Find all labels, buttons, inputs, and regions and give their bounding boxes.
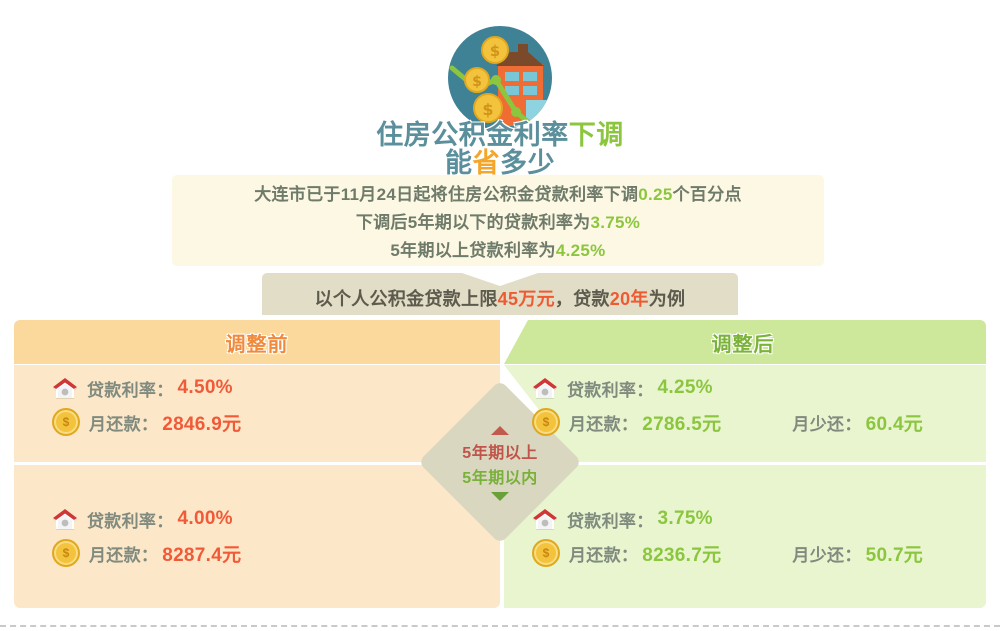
- table-row: $ 月还款： 2846.9元: [52, 406, 241, 438]
- desc-2-text-a: 下调后5年期以下的贷款利率为: [356, 213, 591, 232]
- title-part-highlight: 下调: [569, 120, 624, 150]
- payment-value: 2786.5元: [642, 409, 721, 436]
- panel-before-header-label: 调整前: [226, 328, 289, 357]
- table-row: 贷款利率： 3.75%: [532, 503, 923, 535]
- rate-value: 4.25%: [658, 377, 713, 399]
- table-row: $ 月还款： 2786.5元 月少还： 60.4元: [532, 406, 923, 438]
- example-banner: 以个人公积金贷款上限45万元，贷款20年为例: [262, 273, 738, 315]
- table-row: $ 月还款： 8287.4元: [52, 537, 241, 569]
- payment-label: 月还款：: [89, 410, 158, 435]
- example-text: 以个人公积金贷款上限45万元，贷款20年为例: [315, 277, 686, 311]
- payment-value: 2846.9元: [162, 409, 241, 436]
- page-title: 住房公积金利率下调 能省多少: [0, 122, 1000, 177]
- example-suffix: 为例: [649, 289, 686, 309]
- payment-label: 月还款：: [89, 541, 158, 566]
- table-row: $ 月还款： 8236.7元 月少还： 50.7元: [532, 537, 923, 569]
- house-icon: [52, 376, 78, 400]
- table-row: 贷款利率： 4.50%: [52, 372, 241, 404]
- desc-1-highlight: 0.25: [638, 185, 672, 204]
- triangle-up-icon: [491, 426, 509, 435]
- house-icon: [532, 376, 558, 400]
- panel-after-header-label: 调整后: [712, 328, 775, 357]
- example-prefix: 以个人公积金贷款上限: [315, 289, 498, 309]
- term-label-above: 5年期以上: [462, 439, 537, 463]
- saving-label: 月少还：: [792, 410, 861, 435]
- before-within5y-rows: 贷款利率： 4.00% $ 月还款： 8287.4元: [52, 503, 241, 569]
- saving-label: 月少还：: [792, 541, 861, 566]
- rate-value: 3.75%: [658, 508, 713, 530]
- example-middle: ，贷款: [555, 289, 610, 309]
- example-term: 20年: [610, 289, 649, 309]
- desc-3-text-a: 5年期以上贷款利率为: [390, 241, 555, 260]
- coin-icon: $: [532, 408, 560, 436]
- coin-icon: $: [532, 539, 560, 567]
- desc-2-highlight: 3.75%: [590, 213, 640, 232]
- example-amount: 45万元: [498, 289, 555, 309]
- desc-1-text-b: 个百分点: [673, 185, 742, 204]
- payment-label: 月还款：: [569, 541, 638, 566]
- title-line-2: 能省多少: [0, 150, 1000, 178]
- rate-value: 4.50%: [178, 377, 233, 399]
- rate-label: 贷款利率：: [87, 507, 174, 532]
- svg-text:$: $: [482, 100, 493, 119]
- desc-1-text-a: 大连市已于11月24日起将住房公积金贷款利率下调: [254, 185, 638, 204]
- svg-text:$: $: [472, 74, 482, 90]
- panel-after-header: 调整后: [500, 320, 986, 364]
- house-icon: [52, 507, 78, 531]
- rate-label: 贷款利率：: [567, 507, 654, 532]
- saving-value: 60.4元: [866, 409, 923, 436]
- saving-group: 月少还： 50.7元: [783, 540, 923, 567]
- payment-label: 月还款：: [569, 410, 638, 435]
- desc-3-highlight: 4.25%: [556, 241, 606, 260]
- term-label-within: 5年期以内: [462, 464, 537, 488]
- house-icon: [532, 507, 558, 531]
- saving-value: 50.7元: [866, 540, 923, 567]
- after-within5y-rows: 贷款利率： 3.75% $ 月还款： 8236.7元 月少还： 50.7元: [532, 503, 923, 569]
- panel-before-header: 调整前: [14, 320, 500, 364]
- title-line-1: 住房公积金利率下调: [0, 122, 1000, 150]
- before-above5y-rows: 贷款利率： 4.50% $ 月还款： 2846.9元: [52, 372, 241, 438]
- rate-value: 4.00%: [178, 508, 233, 530]
- coin-icon: $: [52, 539, 80, 567]
- table-row: 贷款利率： 4.00%: [52, 503, 241, 535]
- after-above5y-rows: 贷款利率： 4.25% $ 月还款： 2786.5元 月少还： 60.4元: [532, 372, 923, 438]
- payment-value: 8287.4元: [162, 540, 241, 567]
- triangle-down-icon: [491, 492, 509, 501]
- title-part-neng: 能: [445, 148, 473, 178]
- description-line-3: 5年期以上贷款利率为4.25%: [390, 236, 605, 261]
- payment-value: 8236.7元: [642, 540, 721, 567]
- logo-container: $ $ $: [0, 26, 1000, 130]
- description-line-2: 下调后5年期以下的贷款利率为3.75%: [356, 208, 640, 233]
- rate-label: 贷款利率：: [567, 376, 654, 401]
- house-coins-chart-icon: $ $ $: [438, 26, 562, 130]
- saving-group: 月少还： 60.4元: [783, 409, 923, 436]
- title-part-main: 住房公积金利率: [376, 120, 569, 150]
- title-part-sheng: 省: [473, 148, 501, 178]
- svg-text:$: $: [490, 42, 500, 60]
- table-row: 贷款利率： 4.25%: [532, 372, 923, 404]
- rate-label: 贷款利率：: [87, 376, 174, 401]
- description-box: 大连市已于11月24日起将住房公积金贷款利率下调0.25个百分点 下调后5年期以…: [172, 175, 824, 266]
- description-line-1: 大连市已于11月24日起将住房公积金贷款利率下调0.25个百分点: [254, 180, 742, 205]
- coin-icon: $: [52, 408, 80, 436]
- bottom-divider: [0, 625, 1000, 627]
- title-part-duoshao: 多少: [500, 148, 555, 178]
